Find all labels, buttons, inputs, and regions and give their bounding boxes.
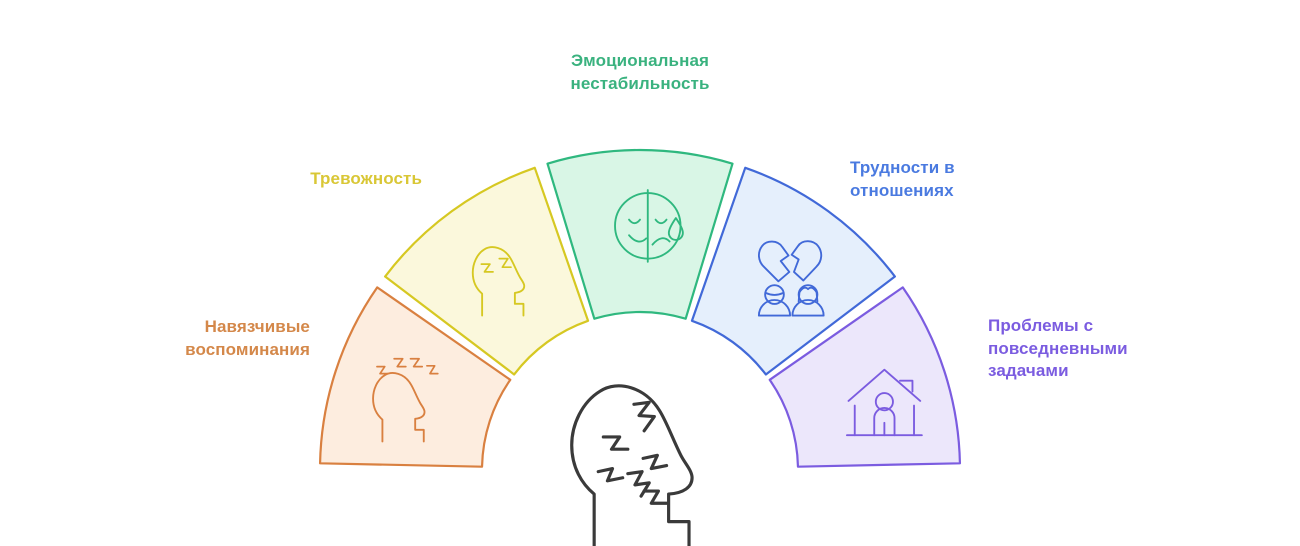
segment-label-anxiety: Тревожность (130, 168, 422, 191)
diagram-canvas: Навязчивые воспоминания Тревожность Эмоц… (0, 0, 1300, 546)
segment-label-emotional-instability: Эмоциональная нестабильность (490, 50, 790, 95)
segment-label-intrusive-memories: Навязчивые воспоминания (20, 316, 310, 361)
segment-label-daily-task-problems: Проблемы с повседневными задачами (988, 315, 1288, 383)
head-with-zigzag-thoughts-icon (572, 386, 692, 546)
segment-label-relationship-difficulties: Трудности в отношениях (850, 157, 1130, 202)
